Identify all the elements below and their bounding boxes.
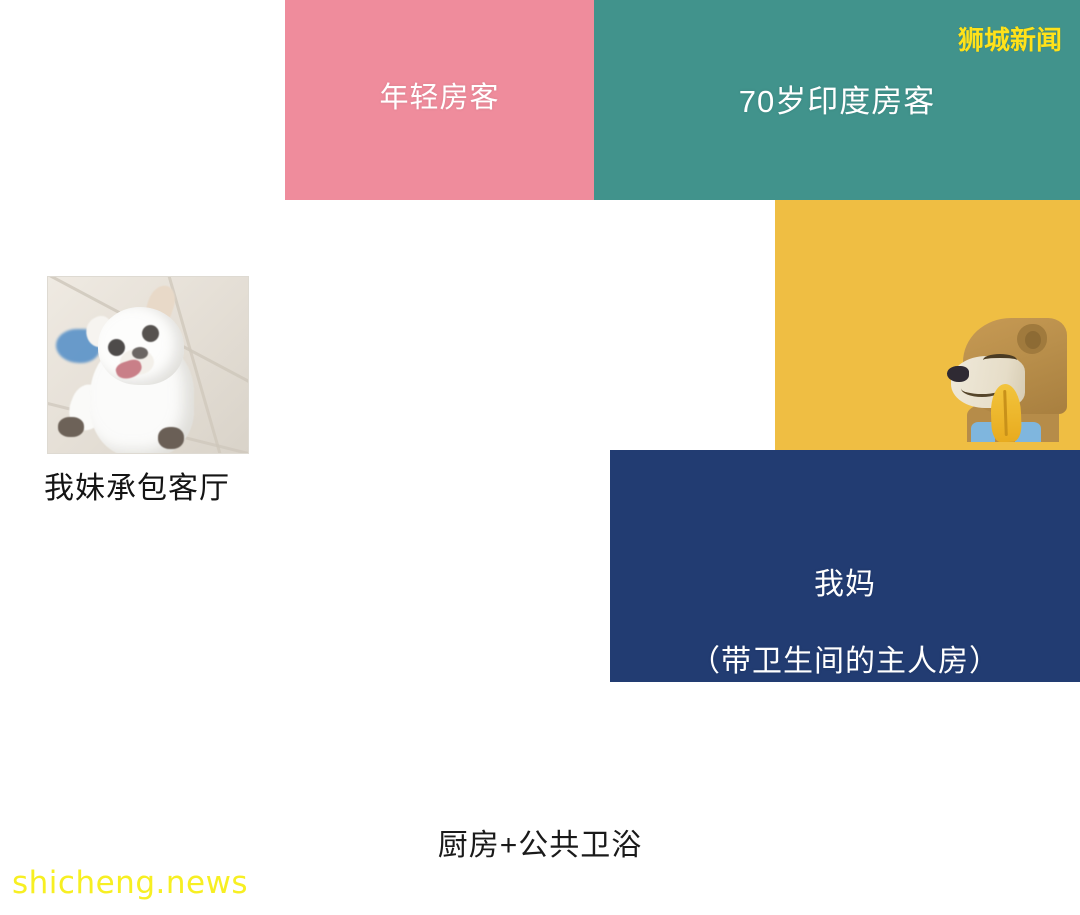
dog-eye-left bbox=[108, 339, 125, 356]
photo-cheems-praying bbox=[945, 314, 1067, 442]
room-block-mom: 我妈 （带卫生间的主人房） bbox=[610, 450, 1080, 682]
shiba-nose bbox=[947, 366, 969, 382]
room-label-young-tenant: 年轻房客 bbox=[285, 80, 594, 117]
watermark-shicheng-news-url: shicheng.news bbox=[12, 865, 248, 901]
room-block-young-tenant: 年轻房客 bbox=[285, 0, 594, 200]
caption-sister-living-room: 我妹承包客厅 bbox=[44, 463, 230, 507]
room-label-mom: 我妈 （带卫生间的主人房） bbox=[610, 528, 1080, 682]
photo-sister-dog bbox=[48, 277, 248, 453]
caption-shared-facilities: 厨房+公共卫浴 bbox=[0, 820, 1080, 864]
dog-paw-left bbox=[58, 417, 84, 437]
room-label-mom-line1: 我妈 bbox=[814, 568, 876, 601]
shiba-inner-ear bbox=[1025, 331, 1041, 349]
dog-nose bbox=[132, 347, 148, 359]
room-label-mom-line2: （带卫生间的主人房） bbox=[690, 645, 1000, 678]
shiba-closed-eye bbox=[983, 354, 1017, 366]
dog-eye-right bbox=[142, 325, 159, 342]
dog-paw-right bbox=[158, 427, 184, 449]
meme-canvas: 年轻房客 70岁印度房客 我 我妈 （带卫生间的主人房） 我妹承包客 bbox=[0, 0, 1080, 915]
watermark-shicheng-news-cn: 狮城新闻 bbox=[958, 20, 1062, 57]
room-label-indian-tenant: 70岁印度房客 bbox=[594, 82, 1080, 122]
